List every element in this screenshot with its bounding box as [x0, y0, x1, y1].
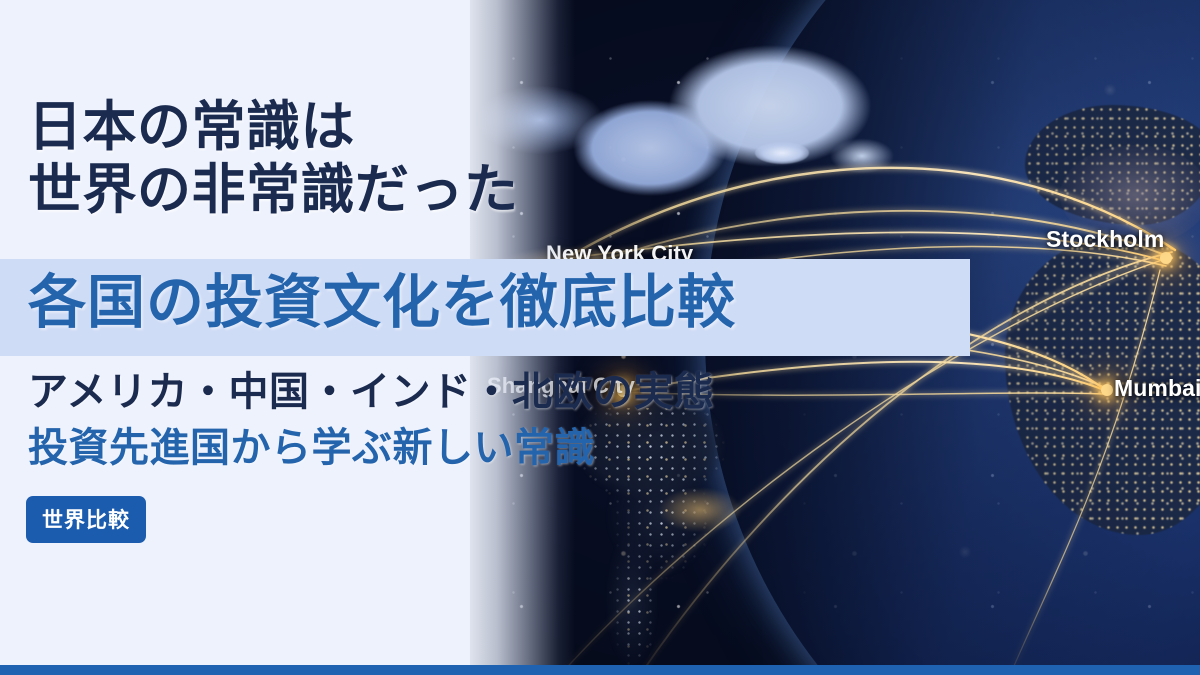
highlight-title: 各国の投資文化を徹底比較 — [28, 268, 736, 338]
text-overlay: 日本の常識は 世界の非常識だった 各国の投資文化を徹底比較 アメリカ・中国・イン… — [0, 0, 1200, 665]
headline: 日本の常識は 世界の非常識だった — [28, 96, 519, 222]
category-badge: 世界比較 — [26, 496, 146, 543]
subtitle-line-1: アメリカ・中国・インド・北欧の実態 — [28, 368, 715, 417]
eyecatch-canvas: New York City Shanghai City Stockholm Mu… — [0, 0, 1200, 675]
subtitle-line-2: 投資先進国から学ぶ新しい常識 — [28, 424, 595, 473]
bottom-accent-bar — [0, 665, 1200, 675]
